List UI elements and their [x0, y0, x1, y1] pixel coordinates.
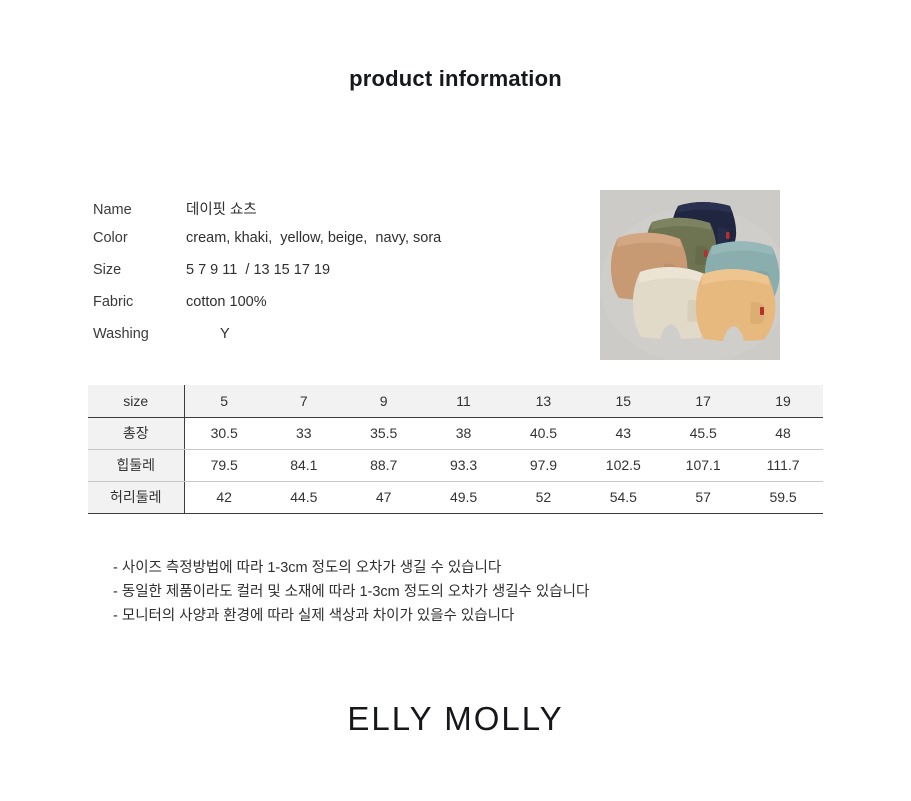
cell-waist-15: 54.5: [583, 481, 663, 513]
cell-waist-19: 59.5: [743, 481, 823, 513]
note-line-3: - 모니터의 사양과 환경에 따라 실제 색상과 차이가 있을수 있습니다: [113, 604, 813, 628]
cell-hip-11: 93.3: [424, 449, 504, 481]
table-header-5: 5: [184, 385, 264, 417]
info-row-fabric: Fabric cotton 100%: [93, 294, 563, 326]
cell-waist-5: 42: [184, 481, 264, 513]
cell-length-7: 33: [264, 417, 344, 449]
info-row-color: Color cream, khaki, yellow, beige, navy,…: [93, 230, 563, 262]
table-header-size: size: [88, 385, 184, 417]
info-value-fabric: cotton 100%: [186, 294, 267, 310]
cell-waist-9: 47: [344, 481, 424, 513]
row-label-length: 총장: [88, 417, 184, 449]
cell-waist-17: 57: [663, 481, 743, 513]
info-label-color: Color: [93, 230, 186, 246]
table-row: 총장 30.5 33 35.5 38 40.5 43 45.5 48: [88, 417, 823, 449]
product-photo: [600, 190, 780, 360]
brand-footer: ELLY MOLLY: [0, 700, 911, 738]
size-table: size 5 7 9 11 13 15 17 19 총장 30.5 33 35.…: [88, 385, 823, 514]
product-info-block: Name 데이핏 쇼츠 Color cream, khaki, yellow, …: [93, 198, 563, 358]
size-table-body: 총장 30.5 33 35.5 38 40.5 43 45.5 48 힙둘레 7…: [88, 417, 823, 513]
table-row: 힙둘레 79.5 84.1 88.7 93.3 97.9 102.5 107.1…: [88, 449, 823, 481]
table-row: 허리둘레 42 44.5 47 49.5 52 54.5 57 59.5: [88, 481, 823, 513]
info-value-color: cream, khaki, yellow, beige, navy, sora: [186, 230, 441, 246]
cell-length-15: 43: [583, 417, 663, 449]
info-label-name: Name: [93, 202, 186, 218]
table-header-15: 15: [583, 385, 663, 417]
cell-hip-7: 84.1: [264, 449, 344, 481]
cell-length-19: 48: [743, 417, 823, 449]
product-photo-illustration: [600, 190, 780, 360]
cell-length-17: 45.5: [663, 417, 743, 449]
info-row-washing: Washing Y: [93, 326, 563, 358]
cell-length-13: 40.5: [504, 417, 584, 449]
info-value-name: 데이핏 쇼츠: [186, 198, 257, 219]
table-header-row: size 5 7 9 11 13 15 17 19: [88, 385, 823, 417]
cell-hip-15: 102.5: [583, 449, 663, 481]
info-row-size: Size 5 7 9 11 / 13 15 17 19: [93, 262, 563, 294]
table-header-9: 9: [344, 385, 424, 417]
disclaimer-notes: - 사이즈 측정방법에 따라 1-3cm 정도의 오차가 생길 수 있습니다 -…: [113, 556, 813, 628]
table-header-11: 11: [424, 385, 504, 417]
cell-waist-11: 49.5: [424, 481, 504, 513]
info-label-washing: Washing: [93, 326, 186, 342]
info-row-name: Name 데이핏 쇼츠: [93, 198, 563, 230]
row-label-waist: 허리둘레: [88, 481, 184, 513]
cell-hip-9: 88.7: [344, 449, 424, 481]
table-header-19: 19: [743, 385, 823, 417]
row-label-hip: 힙둘레: [88, 449, 184, 481]
cell-waist-7: 44.5: [264, 481, 344, 513]
table-header-13: 13: [504, 385, 584, 417]
cell-length-5: 30.5: [184, 417, 264, 449]
info-value-washing: Y: [186, 326, 230, 342]
page-title: product information: [0, 66, 911, 92]
size-table-head: size 5 7 9 11 13 15 17 19: [88, 385, 823, 417]
info-label-size: Size: [93, 262, 186, 278]
table-header-7: 7: [264, 385, 344, 417]
cell-waist-13: 52: [504, 481, 584, 513]
cell-hip-5: 79.5: [184, 449, 264, 481]
cell-length-9: 35.5: [344, 417, 424, 449]
cell-hip-17: 107.1: [663, 449, 743, 481]
info-value-size: 5 7 9 11 / 13 15 17 19: [186, 262, 330, 278]
cell-length-11: 38: [424, 417, 504, 449]
cell-hip-13: 97.9: [504, 449, 584, 481]
table-header-17: 17: [663, 385, 743, 417]
note-line-1: - 사이즈 측정방법에 따라 1-3cm 정도의 오차가 생길 수 있습니다: [113, 556, 813, 580]
note-line-2: - 동일한 제품이라도 컬러 및 소재에 따라 1-3cm 정도의 오차가 생길…: [113, 580, 813, 604]
info-label-fabric: Fabric: [93, 294, 186, 310]
cell-hip-19: 111.7: [743, 449, 823, 481]
